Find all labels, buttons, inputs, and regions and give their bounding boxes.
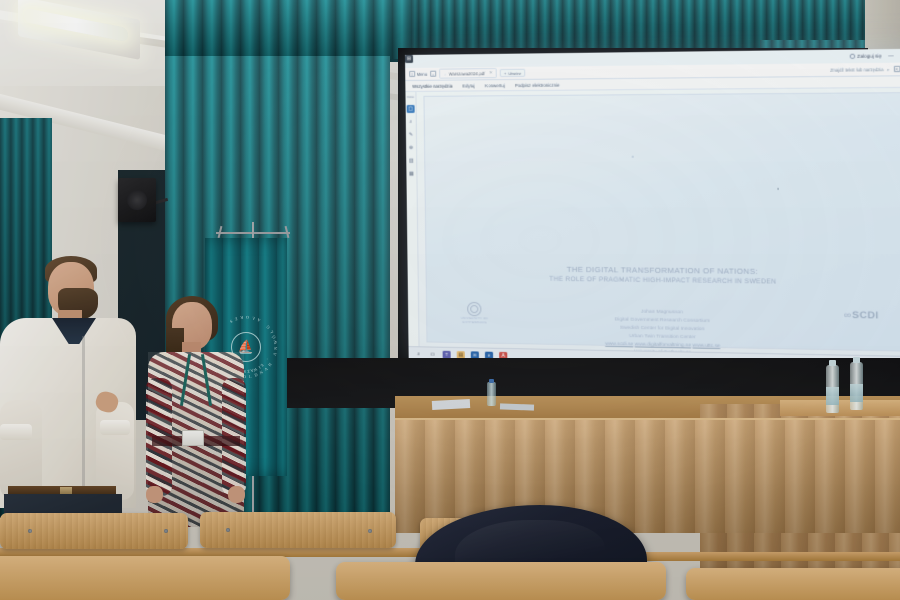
scdi-logo: ∞ SCDI: [844, 310, 879, 322]
menu-item-convert[interactable]: Konwertuj: [485, 83, 505, 88]
presentation-slide: THE DIGITAL TRANSFORMATION OF NATIONS: T…: [424, 92, 900, 352]
document-tab-title: Warszawa2024.pdf: [449, 71, 485, 76]
bench-backrest: [200, 512, 396, 548]
bench-seat: [686, 568, 900, 600]
scdi-mark-icon: ∞: [844, 311, 850, 321]
slide-cursor-artifact: [777, 188, 779, 190]
link-scdi[interactable]: www.scdi.se: [605, 341, 633, 347]
document-tab[interactable]: ☆ Warszawa2024.pdf ✕: [439, 68, 497, 78]
papers-on-stage: [500, 403, 534, 410]
curtain-pelmet: [165, 0, 415, 62]
new-tab-button[interactable]: + Utwórz: [500, 69, 525, 78]
home-icon[interactable]: ⌂: [430, 71, 436, 77]
bench-backrest: [0, 513, 188, 549]
account-avatar-icon: [849, 54, 855, 59]
projection-screen: Zaloguj się — ❑ ✕ ≡ Menu ⌂ ☆ Warszawa202…: [405, 49, 900, 372]
water-bottle: [826, 365, 839, 413]
search-page-icon[interactable]: ⌕: [407, 118, 415, 126]
link-digitalforvaltning[interactable]: www.digitalforvaltning.se: [635, 342, 691, 348]
sign-in-label: Zaloguj się: [857, 53, 881, 59]
left-rail-label: Widok: [407, 96, 414, 99]
task-view-icon[interactable]: ▭: [429, 350, 437, 358]
menu-button[interactable]: ≡ Menu: [409, 71, 427, 77]
search-placeholder: Znajdź tekst lub narzędzia: [830, 66, 883, 72]
search-input[interactable]: Znajdź tekst lub narzędzia ⌕: [830, 66, 889, 72]
wall-loudspeaker: [118, 178, 156, 222]
menu-item-esign[interactable]: Podpisz elektronicznie: [515, 82, 560, 87]
page-thumbnail-icon[interactable]: ▢: [407, 105, 415, 113]
windows-start-icon[interactable]: ⊞: [405, 55, 413, 63]
gothenburg-logo-text: UNIVERSITY OF GOTHENBURG: [461, 317, 488, 325]
woman-right-hand: [228, 486, 245, 503]
minimize-button[interactable]: —: [887, 53, 895, 59]
sign-in-button[interactable]: Zaloguj się: [849, 53, 881, 59]
water-bottle-small: [487, 382, 496, 406]
close-icon[interactable]: ✕: [489, 70, 493, 76]
bench-screw: [164, 529, 168, 533]
share-icon[interactable]: ⇱: [894, 66, 900, 72]
bottle-cap: [489, 379, 494, 383]
bench-seat: [0, 556, 290, 600]
star-icon[interactable]: ☆: [443, 71, 447, 76]
bottle-label: [850, 384, 863, 402]
slide-title: THE DIGITAL TRANSFORMATION OF NATIONS: T…: [549, 263, 776, 286]
windows-desktop: Zaloguj się — ❑ ✕ ≡ Menu ⌂ ☆ Warszawa202…: [405, 49, 900, 372]
menu-item-all-tools[interactable]: Wszystkie narzędzia: [412, 83, 452, 88]
zoom-icon[interactable]: ⊕: [407, 144, 415, 152]
university-seal-icon: [467, 302, 481, 316]
bench-seat: [336, 562, 666, 600]
water-bottle: [850, 362, 863, 410]
bookmark-icon[interactable]: ▥: [407, 157, 415, 165]
slide-title-line2: THE ROLE OF PRAGMATIC HIGH-IMPACT RESEAR…: [549, 274, 776, 286]
bottle-cap: [829, 360, 836, 366]
highlight-pen-icon[interactable]: ✎: [407, 131, 415, 139]
bench-screw: [226, 528, 230, 532]
new-tab-label: Utwórz: [508, 70, 521, 75]
layers-icon[interactable]: ▦: [407, 170, 415, 178]
menu-label: Menu: [417, 71, 428, 76]
bottle-label: [826, 387, 839, 405]
man-shirt-placket: [82, 336, 85, 486]
menu-item-edit[interactable]: Edytuj: [462, 83, 474, 88]
plus-icon: +: [504, 70, 506, 75]
gothenburg-logo: UNIVERSITY OF GOTHENBURG: [459, 302, 490, 325]
man-left-arm: [0, 400, 42, 500]
woman-left-hand: [146, 486, 163, 503]
man-right-cuff: [100, 420, 130, 435]
acrobat-body: Widok ▢ ⌕ ✎ ⊕ ▥ ▦ THE DIGITAL TRANSFORMA…: [405, 88, 900, 357]
desk-surface: [780, 400, 900, 416]
slide-artifact: [631, 155, 633, 157]
man-left-cuff: [0, 424, 32, 440]
name-badge: [182, 430, 204, 446]
speaker-cone: [127, 190, 147, 210]
bench-screw: [368, 529, 372, 533]
banner-letter: ·: [265, 358, 270, 362]
conference-room-photo: Zaloguj się — ❑ ✕ ≡ Menu ⌂ ☆ Warszawa202…: [0, 0, 900, 600]
slide-body: Johan Magnusson Digital Government Resea…: [605, 308, 721, 357]
gothenburg-line2: GOTHENBURG: [461, 321, 488, 325]
search-icon[interactable]: ⌕: [887, 66, 890, 71]
bench-screw: [28, 529, 32, 533]
hamburger-icon: ≡: [409, 71, 415, 77]
link-uttc[interactable]: www.uttc.se: [692, 343, 720, 349]
pdf-page-area[interactable]: THE DIGITAL TRANSFORMATION OF NATIONS: T…: [416, 88, 900, 356]
search-icon[interactable]: ⌕: [415, 350, 423, 358]
scdi-logo-text: SCDI: [852, 310, 879, 322]
bottle-cap: [853, 357, 860, 363]
seal-inner-ring: [470, 305, 478, 313]
